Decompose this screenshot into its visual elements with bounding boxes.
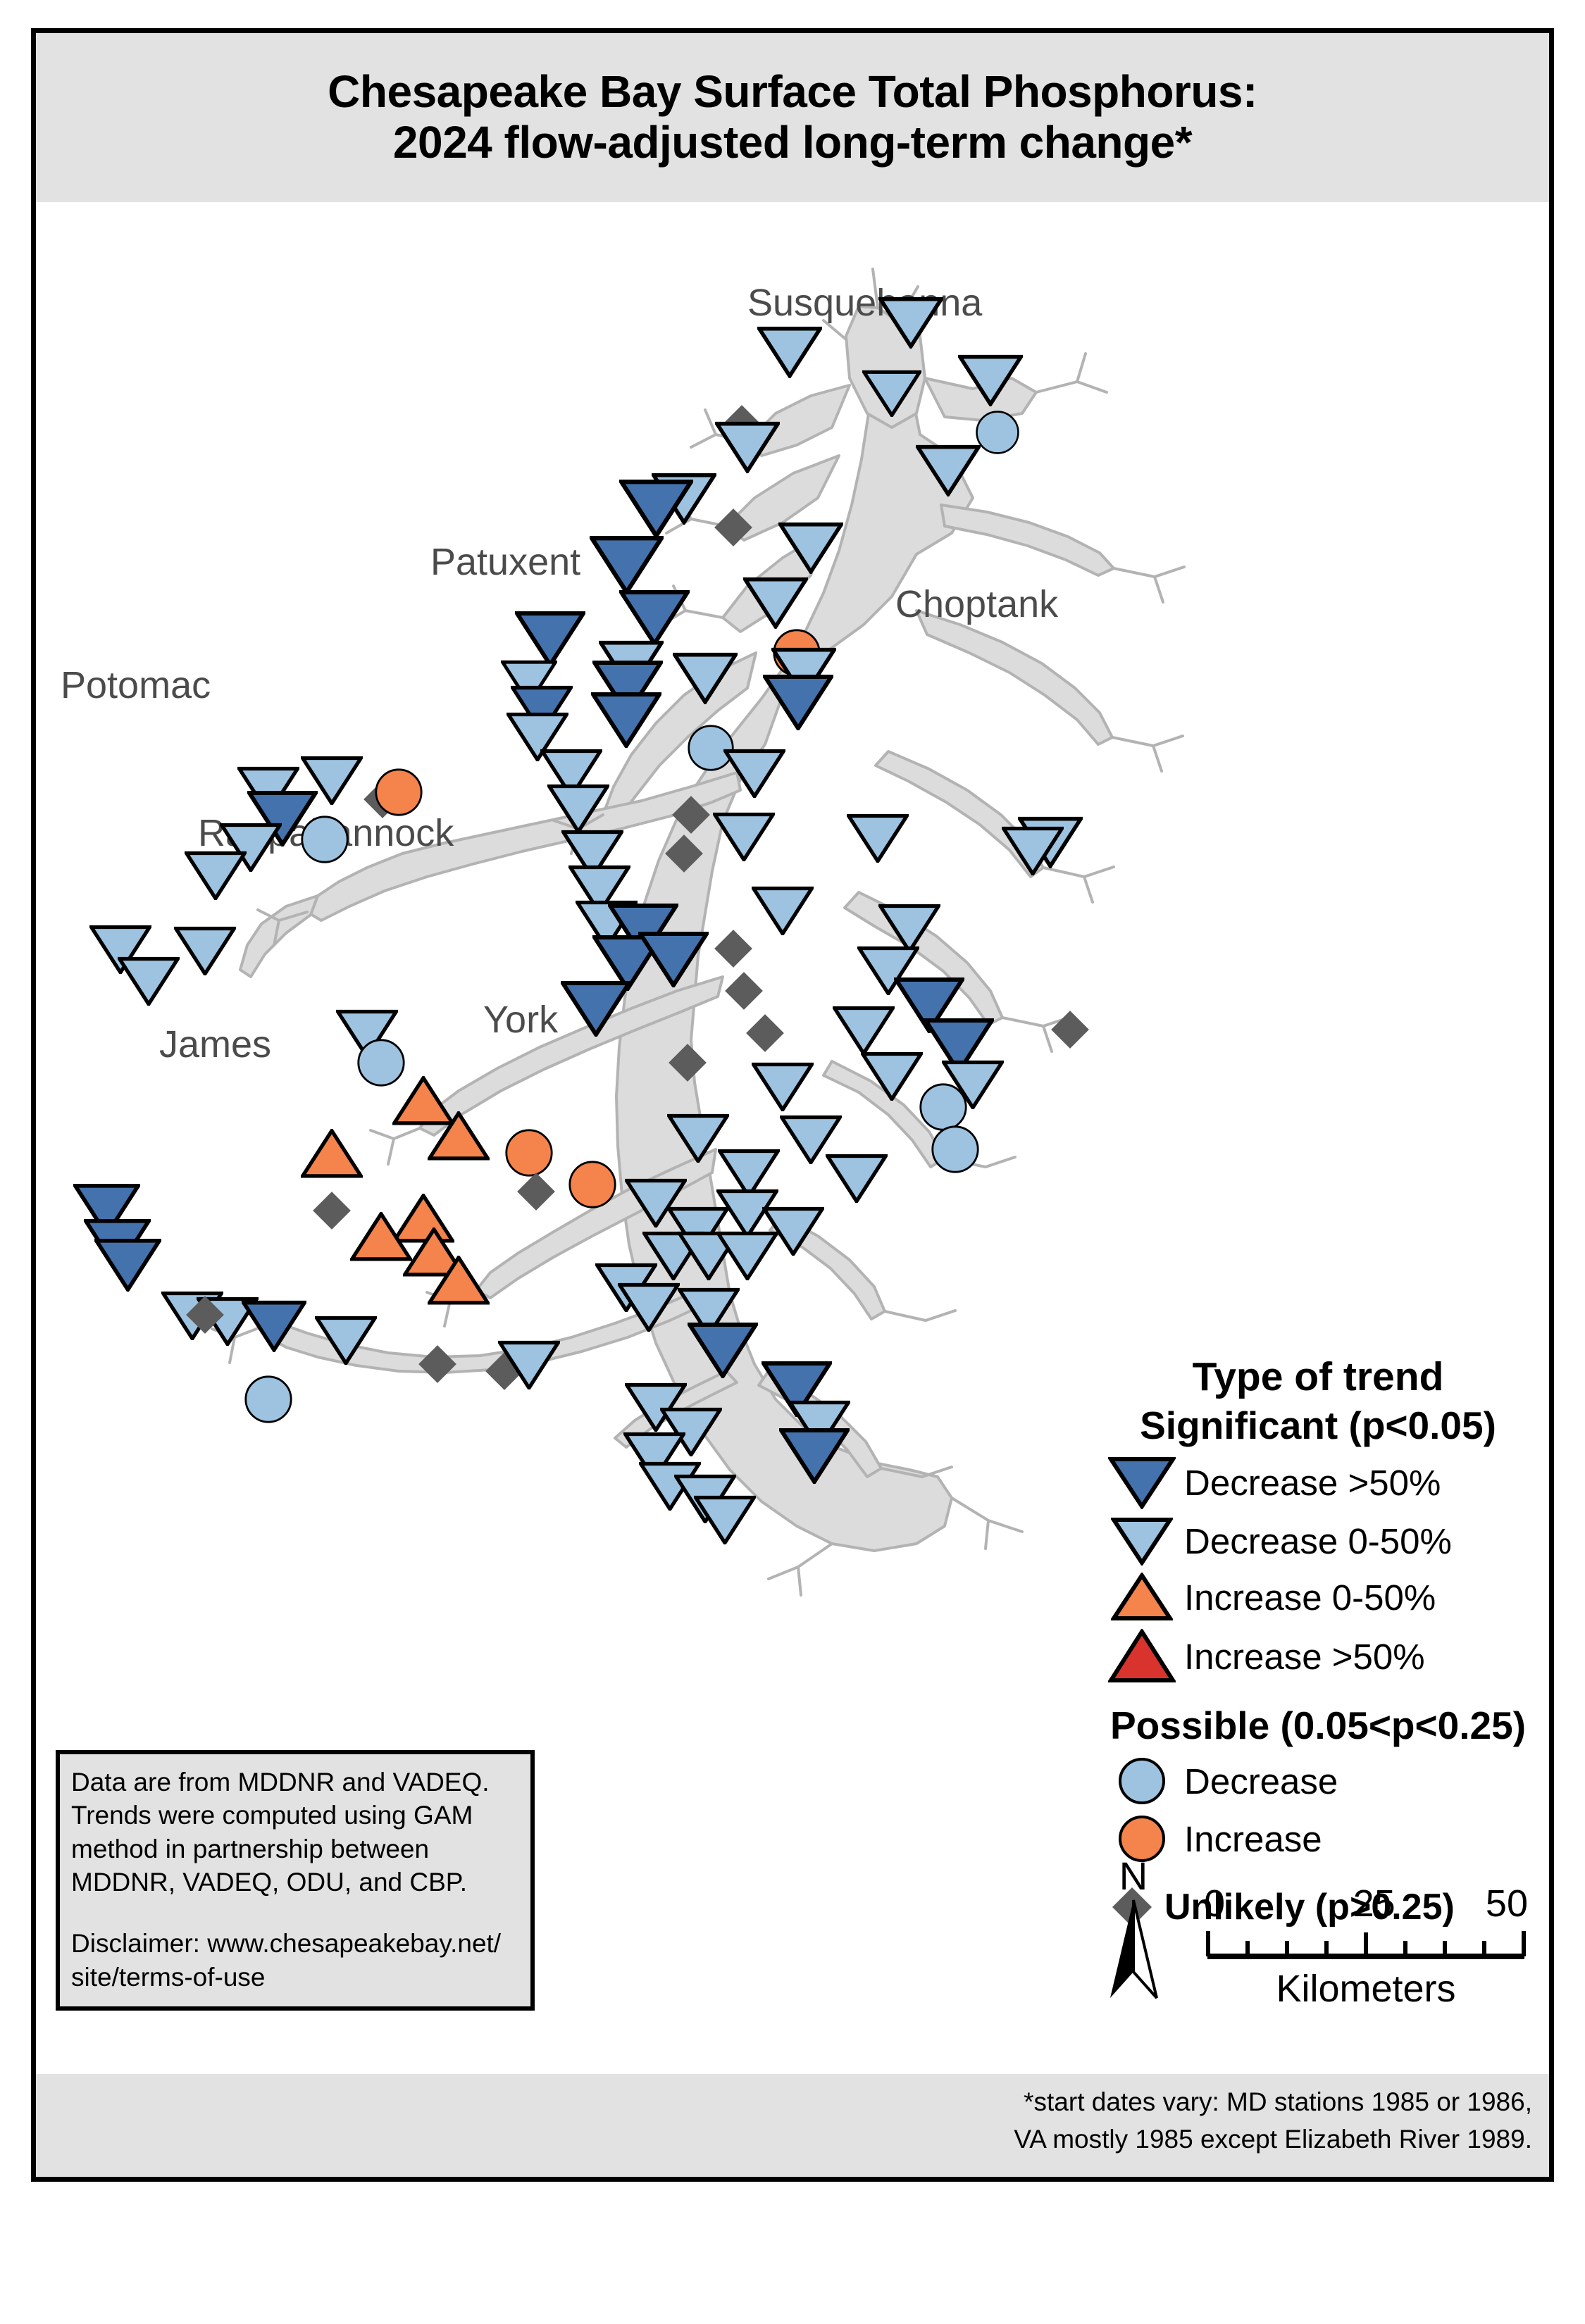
marker-decrease-small[interactable] — [743, 577, 808, 629]
marker-decrease-large[interactable] — [242, 1300, 306, 1352]
legend-item-decrease-small: Decrease 0-50% — [1100, 1516, 1536, 1566]
river-label-patuxent: Patuxent — [430, 540, 580, 584]
disclaimer-line-2: Trends were computed using GAM — [71, 1799, 519, 1832]
legend-label: Increase 0-50% — [1184, 1580, 1436, 1616]
disclaimer-box: Data are from MDDNR and VADEQ. Trends we… — [56, 1750, 535, 2011]
footnote-line-2: VA mostly 1985 except Elizabeth River 19… — [1014, 2121, 1532, 2159]
legend-item-increase-small: Increase 0-50% — [1100, 1573, 1536, 1622]
north-arrow-label: N — [1081, 1856, 1186, 1896]
marker-unlikely[interactable] — [516, 1172, 556, 1211]
marker-unlikely[interactable] — [668, 1043, 707, 1082]
footnote-band: *start dates vary: MD stations 1985 or 1… — [36, 2074, 1549, 2177]
triangle-down-icon — [1100, 1516, 1184, 1566]
map-frame: Chesapeake Bay Surface Total Phosphorus:… — [31, 28, 1554, 2182]
marker-decrease-small[interactable] — [752, 1062, 814, 1111]
disclaimer-line-6: site/terms-of-use — [71, 1961, 519, 1994]
disclaimer-line-3: method in partnership between — [71, 1832, 519, 1866]
legend-possible-header: Possible (0.05<p<0.25) — [1100, 1702, 1536, 1749]
legend-label: Decrease >50% — [1184, 1465, 1441, 1501]
marker-unlikely[interactable] — [714, 508, 753, 547]
marker-decrease-small[interactable] — [694, 1495, 756, 1544]
marker-decrease-small[interactable] — [713, 812, 775, 861]
marker-unlikely[interactable] — [418, 1344, 457, 1384]
legend-item-possible-decrease: Decrease — [1100, 1756, 1536, 1806]
disclaimer-line-4: MDDNR, VADEQ, ODU, and CBP. — [71, 1866, 519, 1899]
marker-decrease-small[interactable] — [498, 1340, 560, 1389]
marker-decrease-large[interactable] — [94, 1238, 161, 1292]
marker-decrease-small[interactable] — [861, 1051, 923, 1101]
north-arrow: N — [1081, 1856, 1186, 2005]
marker-decrease-large[interactable] — [763, 674, 833, 730]
legend-title: Type of trend — [1100, 1354, 1536, 1401]
scale-bar-graphic — [1204, 1925, 1528, 1962]
marker-possible-decrease[interactable] — [244, 1375, 293, 1424]
marker-decrease-small[interactable] — [833, 1006, 895, 1055]
scale-bar-caption: Kilometers — [1204, 1967, 1528, 2011]
marker-decrease-small[interactable] — [878, 296, 943, 349]
marker-decrease-small[interactable] — [723, 749, 785, 798]
marker-decrease-small[interactable] — [862, 370, 921, 417]
marker-decrease-large[interactable] — [591, 692, 661, 748]
marker-increase-small[interactable] — [428, 1256, 490, 1305]
map-canvas[interactable]: SusquehannaPatuxentChoptankPotomacRappah… — [36, 202, 1549, 2146]
marker-decrease-small[interactable] — [174, 926, 236, 975]
marker-possible-decrease[interactable] — [975, 410, 1020, 455]
marker-unlikely[interactable] — [745, 1013, 785, 1053]
marker-unlikely[interactable] — [714, 929, 753, 968]
legend-label: Decrease 0-50% — [1184, 1523, 1452, 1559]
north-arrow-icon — [1095, 1896, 1172, 2001]
marker-unlikely[interactable] — [1050, 1010, 1090, 1049]
marker-decrease-small[interactable] — [547, 784, 609, 833]
title-line-2: 2024 flow-adjusted long-term change* — [393, 118, 1192, 168]
marker-possible-decrease[interactable] — [931, 1125, 980, 1174]
triangle-up-icon — [1100, 1573, 1184, 1622]
scale-tick-25: 25 — [1353, 1882, 1396, 1925]
scale-tick-0: 0 — [1204, 1882, 1225, 1925]
title-line-1: Chesapeake Bay Surface Total Phosphorus: — [328, 67, 1257, 118]
river-label-potomac: Potomac — [61, 663, 211, 707]
marker-decrease-large[interactable] — [590, 535, 664, 594]
marker-decrease-small[interactable] — [916, 444, 981, 496]
marker-decrease-large[interactable] — [619, 589, 690, 646]
river-label-choptank: Choptank — [895, 582, 1058, 626]
marker-unlikely[interactable] — [671, 795, 711, 835]
triangle-up-icon — [1100, 1629, 1184, 1684]
marker-decrease-small[interactable] — [1002, 826, 1064, 875]
marker-decrease-small[interactable] — [826, 1154, 888, 1203]
marker-decrease-small[interactable] — [757, 326, 822, 378]
legend-item-decrease-large: Decrease >50% — [1100, 1456, 1536, 1509]
marker-possible-increase[interactable] — [374, 768, 423, 817]
marker-decrease-small[interactable] — [716, 1231, 778, 1280]
circle-icon — [1100, 1756, 1184, 1806]
marker-decrease-small[interactable] — [118, 956, 180, 1006]
marker-decrease-large[interactable] — [515, 611, 585, 667]
marker-possible-decrease[interactable] — [300, 815, 349, 864]
marker-decrease-small[interactable] — [673, 652, 738, 704]
legend-label: Increase — [1184, 1821, 1322, 1857]
disclaimer-line-5: Disclaimer: www.chesapeakebay.net/ — [71, 1927, 519, 1960]
legend: Type of trend Significant (p<0.05) Decre… — [1100, 1354, 1536, 1929]
scale-bar: 0 25 50 Kilometers — [1204, 1882, 1528, 2011]
marker-decrease-small[interactable] — [778, 522, 843, 574]
marker-possible-increase[interactable] — [504, 1128, 554, 1177]
marker-decrease-large[interactable] — [779, 1427, 850, 1484]
marker-possible-increase[interactable] — [568, 1160, 617, 1209]
legend-label: Increase >50% — [1184, 1639, 1425, 1675]
marker-decrease-large[interactable] — [561, 980, 631, 1037]
marker-increase-small[interactable] — [428, 1111, 490, 1161]
disclaimer-line-1: Data are from MDDNR and VADEQ. — [71, 1766, 519, 1799]
marker-decrease-small[interactable] — [847, 813, 909, 863]
marker-decrease-small[interactable] — [315, 1316, 377, 1365]
triangle-down-icon — [1100, 1456, 1184, 1509]
marker-unlikely[interactable] — [664, 834, 704, 873]
marker-decrease-large[interactable] — [619, 479, 693, 538]
map-title-band: Chesapeake Bay Surface Total Phosphorus:… — [36, 33, 1549, 202]
marker-decrease-small[interactable] — [618, 1282, 680, 1332]
marker-unlikely[interactable] — [312, 1191, 352, 1230]
river-label-james: James — [159, 1023, 271, 1066]
marker-increase-small[interactable] — [301, 1129, 363, 1178]
marker-decrease-small[interactable] — [185, 851, 247, 900]
marker-decrease-large[interactable] — [688, 1322, 758, 1378]
footnote-line-1: *start dates vary: MD stations 1985 or 1… — [1014, 2084, 1532, 2121]
marker-unlikely[interactable] — [724, 971, 764, 1011]
legend-item-increase-large: Increase >50% — [1100, 1629, 1536, 1684]
marker-decrease-small[interactable] — [752, 886, 814, 935]
river-label-york: York — [483, 998, 558, 1042]
river-label-susquehanna: Susquehanna — [747, 281, 982, 325]
legend-significant-header: Significant (p<0.05) — [1100, 1402, 1536, 1449]
marker-decrease-small[interactable] — [715, 421, 780, 473]
legend-label: Decrease — [1184, 1763, 1338, 1799]
scale-tick-50: 50 — [1486, 1882, 1528, 1925]
marker-decrease-small[interactable] — [958, 354, 1023, 406]
marker-unlikely[interactable] — [185, 1295, 225, 1335]
marker-decrease-large[interactable] — [638, 931, 709, 987]
